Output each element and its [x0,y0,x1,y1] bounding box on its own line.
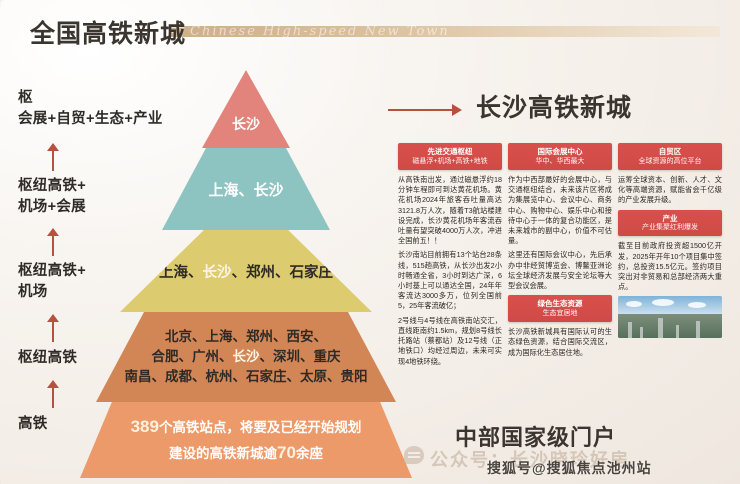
info-column-expo: 国际会展中心 华中、华西最大 作为中西部最好的会展中心，与交通枢纽结合，未来该片… [508,143,612,371]
paragraph: 2号线与4号线在高铁南站交汇，直线距南约1.5km，规划8号线长托路站（蔡都站）… [398,316,502,367]
pyramid-tier-2-label: 上海、长沙 [208,179,283,200]
info-columns: 先进交通枢纽 磁悬浮+机场+高铁+地铁 从高铁南出发，通过磁悬浮约18分钟车程即… [398,143,724,371]
header-script-text: Chinese High-speed New Town [190,24,490,40]
cityscape-photo [618,296,722,338]
pyramid-tier-5: 389个高铁站点，将要及已经开始规划 建设的高铁新城逾70余座 [80,402,412,478]
ladder-label-1: 高铁 [18,414,48,435]
pyramid-tier-5-line-1: 389个高铁站点，将要及已经开始规划 [100,414,392,440]
ladder-label-2: 枢纽高铁 [18,348,77,369]
pyramid-tier-4: 北京、上海、郑州、西安、 合肥、广州、长沙、深圳、重庆 南昌、成都、杭州、石家庄… [96,312,396,402]
pyramid-tier-1-label: 长沙 [232,114,260,134]
pyramid-tier-5-line-2: 建设的高铁新城逾70余座 [100,440,392,466]
watermark-source: 搜狐号@搜狐焦点池州站 [487,458,652,478]
ladder-label-4: 枢纽高铁+机场+会展 [18,176,86,218]
paragraph: 截至目前政府投资超1500亿开发，2025年开年10个项目集中签约，总投资15.… [618,241,722,292]
right-panel: 长沙高铁新城 先进交通枢纽 磁悬浮+机场+高铁+地铁 从高铁南出发，通过磁悬浮约… [398,88,724,418]
badge-industry: 产业 产业集聚红利爆发 [618,210,722,237]
badge-expo-center: 国际会展中心 华中、华西最大 [508,143,612,170]
info-column-freetrade: 自贸区 全球资源的高位平台 运筹全球资本、创新、人才、文化等高端资源，赋能省会千… [618,143,722,371]
info-column-transport: 先进交通枢纽 磁悬浮+机场+高铁+地铁 从高铁南出发，通过磁悬浮约18分钟车程即… [398,143,502,371]
pyramid-tier-3: 上海、长沙、郑州、石家庄 [120,230,372,312]
badge-transport-hub: 先进交通枢纽 磁悬浮+机场+高铁+地铁 [398,143,502,170]
ladder-arrow-2 [46,314,60,342]
badge-free-trade-zone: 自贸区 全球资源的高位平台 [618,143,722,170]
ladder-label-3: 枢纽高铁+机场 [18,261,86,303]
paragraph: 作为中西部最好的会展中心，与交通枢纽结合，未来该片区将成为集展览中心、会议中心、… [508,175,612,247]
ladder-arrow-3 [46,228,60,256]
header: Chinese High-speed New Town 全国高铁新城 [30,14,720,54]
ladder-arrow-1 [46,380,60,408]
ladder-arrow-4 [46,143,60,171]
paragraph: 长沙高铁新城具有国际认可的生态绿色资源，结合国际交流区，成为国际化生态居住地。 [508,327,612,358]
pyramid-tier-3-label: 上海、长沙、郑州、石家庄 [159,261,333,282]
paragraph: 从高铁南出发，通过磁悬浮约18分钟车程即可到达黄花机场。黄花机场2024年旅客吞… [398,175,502,247]
pyramid-tier-4-line-1: 北京、上海、郑州、西安、 [114,327,378,347]
paragraph: 运筹全球资本、创新、人才、文化等高端资源，赋能省会千亿级的产业发展升级。 [618,175,722,206]
wechat-icon [404,446,424,464]
pointer-arrow-icon [388,104,466,116]
pyramid-chart: 长沙 上海、长沙 上海、长沙、郑州、石家庄 北京、上海、郑州、西安、 合肥、广州… [96,70,396,478]
paragraph: 这里还有国际会议中心，先后承办中非经贸博览会、博鳌亚洲论坛全球经济发展与安全论坛… [508,250,612,291]
section-title: 长沙高铁新城 [476,88,632,124]
pyramid-tier-2: 上海、长沙 [162,148,330,230]
paragraph: 长沙南站目前拥有13个站台28条线，515趟高铁，从长沙出发2小时畅通全省，3小… [398,250,502,311]
page-title: 全国高铁新城 [30,14,186,50]
stat-stations: 389 [131,417,159,436]
pyramid-tier-4-line-3: 南昌、成都、杭州、石家庄、太原、贵阳 [114,367,378,387]
pyramid-tier-4-line-2: 合肥、广州、长沙、深圳、重庆 [114,347,378,367]
stat-newtowns: 70 [277,443,296,462]
badge-green-ecology: 绿色生态资源 生态宜居地 [508,295,612,322]
pyramid-tier-1 [202,70,290,148]
